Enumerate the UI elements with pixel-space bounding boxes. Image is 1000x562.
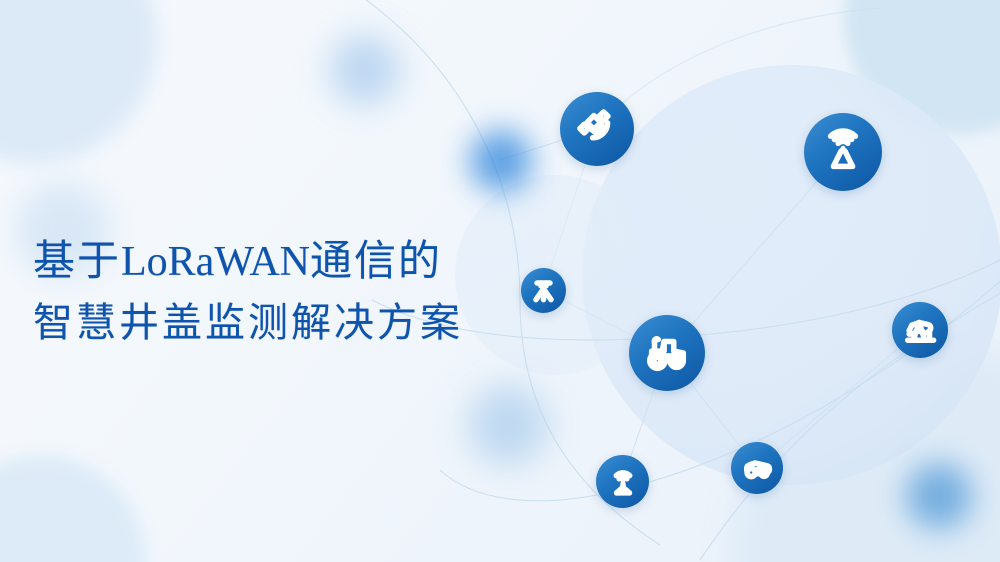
connector-oilpump-harvester bbox=[757, 330, 920, 468]
harvester-icon bbox=[731, 442, 783, 494]
signal-post-icon bbox=[596, 455, 649, 508]
tractor-icon bbox=[629, 315, 705, 391]
decorative-blob-top-left bbox=[0, 0, 158, 164]
title-line-1-prefix: 基于 bbox=[33, 236, 121, 285]
orbit-arc-5 bbox=[596, 8, 880, 128]
title-line-1-latin: LoRaWAN bbox=[121, 239, 310, 285]
title-line-1-suffix: 通信的 bbox=[310, 236, 442, 285]
decorative-dot-accent-right bbox=[906, 463, 972, 529]
oil-pump-icon bbox=[892, 302, 948, 358]
orbit-arc-4 bbox=[700, 286, 1000, 560]
decorative-dot-accent-left bbox=[470, 130, 532, 192]
decorative-blob-bottom-left bbox=[0, 455, 146, 562]
title-slide: 基于LoRaWAN通信的 智慧井盖监测解决方案 bbox=[0, 0, 1000, 562]
survey-tripod-icon bbox=[521, 268, 566, 313]
decorative-dot-top-mid bbox=[330, 35, 400, 105]
satellite-icon bbox=[560, 92, 634, 166]
decorative-blob-top-right bbox=[844, 0, 1000, 134]
radio-tower-icon bbox=[804, 113, 882, 191]
connector-tower-tractor bbox=[667, 152, 843, 353]
decorative-dot-accent-center bbox=[468, 385, 548, 465]
